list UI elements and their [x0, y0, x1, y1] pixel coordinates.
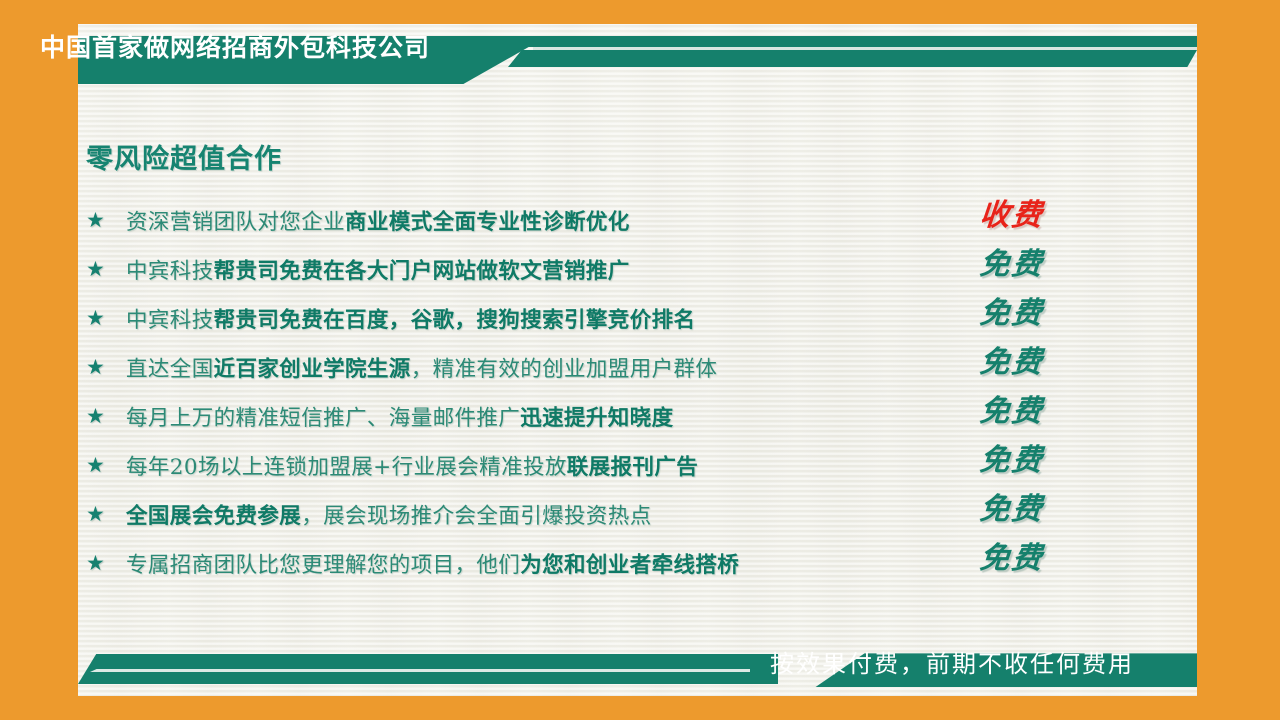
list-item-text-highlight: 全国展会免费参展	[126, 504, 301, 529]
list-item-text-plain-before: 每月上万的精准短信推广、海量邮件推广	[126, 406, 520, 431]
list-item-text-plain-before: 直达全国	[126, 357, 214, 382]
list-item-text: 每月上万的精准短信推广、海量邮件推广迅速提升知晓度	[126, 401, 674, 432]
list-item: ★全国展会免费参展，展会现场推介会全面引爆投资热点免费	[86, 490, 1086, 539]
list-item-text: 中宾科技帮贵司免费在百度，谷歌，搜狗搜索引擎竞价排名	[126, 303, 695, 334]
section-title: 零风险超值合作	[86, 137, 282, 176]
list-item-text-plain-before: 专属招商团队比您更理解您的项目，他们	[126, 553, 520, 578]
list-item-text-highlight: 为您和创业者牵线搭桥	[520, 553, 739, 578]
list-item-text: 全国展会免费参展，展会现场推介会全面引爆投资热点	[126, 499, 652, 530]
list-item: ★中宾科技帮贵司免费在百度，谷歌，搜狗搜索引擎竞价排名免费	[86, 294, 1086, 343]
price-badge: 免费	[950, 435, 1074, 479]
star-bullet-icon: ★	[86, 406, 126, 427]
list-item: ★中宾科技帮贵司免费在各大门户网站做软文营销推广免费	[86, 245, 1086, 294]
star-bullet-icon: ★	[86, 259, 126, 280]
list-item-text-highlight: 帮贵司免费在百度，谷歌，搜狗搜索引擎竞价排名	[214, 308, 696, 333]
slide-canvas: 中国首家做网络招商外包科技公司 零风险超值合作 ★资深营销团队对您企业商业模式全…	[0, 0, 1280, 720]
price-badge: 免费	[950, 533, 1074, 577]
footer-tagline: 按效果付费，前期不收任何费用	[770, 653, 1190, 677]
price-badge: 免费	[950, 288, 1074, 332]
benefit-list: ★资深营销团队对您企业商业模式全面专业性诊断优化收费★中宾科技帮贵司免费在各大门…	[86, 196, 1086, 588]
list-item: ★资深营销团队对您企业商业模式全面专业性诊断优化收费	[86, 196, 1086, 245]
list-item-text-plain-before: 中宾科技	[126, 308, 214, 333]
list-item-text-plain-after: ，展会现场推介会全面引爆投资热点	[301, 504, 651, 529]
price-badge: 免费	[950, 484, 1074, 528]
price-badge: 免费	[950, 337, 1074, 381]
star-bullet-icon: ★	[86, 455, 126, 476]
list-item-text-plain-before: 中宾科技	[126, 259, 214, 284]
list-item-text: 直达全国近百家创业学院生源，精准有效的创业加盟用户群体	[126, 352, 717, 383]
header-title: 中国首家做网络招商外包科技公司	[40, 36, 430, 61]
price-badge: 收费	[950, 190, 1074, 234]
price-badge: 免费	[950, 239, 1074, 283]
list-item-text-highlight: 帮贵司免费在各大门户网站做软文营销推广	[214, 259, 630, 284]
list-item: ★直达全国近百家创业学院生源，精准有效的创业加盟用户群体免费	[86, 343, 1086, 392]
list-item: ★每年20场以上连锁加盟展+行业展会精准投放联展报刊广告免费	[86, 441, 1086, 490]
list-item-text: 专属招商团队比您更理解您的项目，他们为您和创业者牵线搭桥	[126, 548, 739, 579]
list-item-text-highlight: 联展报刊广告	[567, 455, 698, 480]
star-bullet-icon: ★	[86, 308, 126, 329]
list-item-text-plain-after: ，精准有效的创业加盟用户群体	[411, 357, 718, 382]
star-bullet-icon: ★	[86, 553, 126, 574]
star-bullet-icon: ★	[86, 504, 126, 525]
list-item: ★专属招商团队比您更理解您的项目，他们为您和创业者牵线搭桥免费	[86, 539, 1086, 588]
list-item-text: 中宾科技帮贵司免费在各大门户网站做软文营销推广	[126, 254, 630, 285]
list-item-text: 每年20场以上连锁加盟展+行业展会精准投放联展报刊广告	[126, 450, 698, 481]
list-item-text-highlight: 近百家创业学院生源	[214, 357, 411, 382]
list-item-text-plain-before: 资深营销团队对您企业	[126, 210, 345, 235]
list-item-text-highlight: 迅速提升知晓度	[520, 406, 673, 431]
list-item-text: 资深营销团队对您企业商业模式全面专业性诊断优化	[126, 205, 630, 236]
list-item-text-highlight: 商业模式全面专业性诊断优化	[345, 210, 630, 235]
star-bullet-icon: ★	[86, 210, 126, 231]
star-bullet-icon: ★	[86, 357, 126, 378]
list-item-text-plain-before: 每年20场以上连锁加盟展+行业展会精准投放	[126, 455, 567, 480]
price-badge: 免费	[950, 386, 1074, 430]
list-item: ★每月上万的精准短信推广、海量邮件推广迅速提升知晓度免费	[86, 392, 1086, 441]
